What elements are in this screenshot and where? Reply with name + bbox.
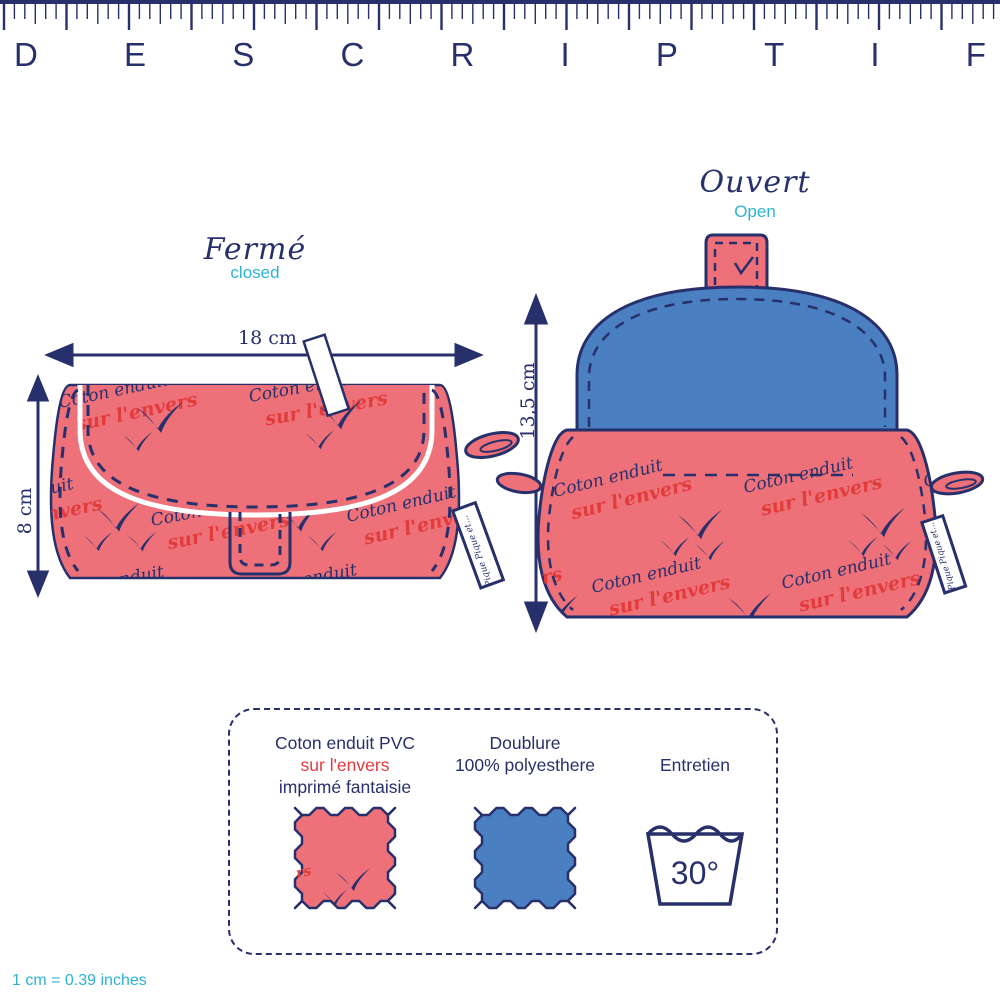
title-letter-3: C — [340, 38, 364, 71]
materials-legend-box: Coton enduit PVC sur l'envers imprimé fa… — [228, 708, 778, 955]
closed-view-title-en: closed — [180, 263, 330, 283]
open-bag-lining — [577, 287, 897, 430]
pink-fabric-swatch: rs — [250, 802, 440, 922]
wash-30-icon: 30° — [620, 812, 770, 932]
title-letter-8: I — [870, 38, 879, 71]
open-height-dim-label: 13,5 cm — [517, 361, 539, 441]
title-letter-0: D — [14, 38, 38, 71]
print-red-text: sur l'envers — [68, 581, 195, 626]
title-letter-4: R — [450, 38, 474, 71]
closed-width-dim-label: 18 cm — [238, 327, 297, 349]
title-letter-7: T — [764, 38, 784, 71]
legend-c2-line-1: 100% polyesthere — [425, 754, 625, 776]
legend-c3-line-0: Entretien — [620, 754, 770, 776]
ruler-icon — [0, 0, 1000, 30]
closed-view-title-fr: Fermé — [180, 232, 330, 267]
legend-c1-line-2: imprimé fantaisie — [250, 776, 440, 798]
closed-height-dim-label: 8 cm — [14, 481, 36, 541]
legend-column-care: Entretien 30° — [620, 754, 770, 932]
open-view-title-en: Open — [675, 202, 835, 222]
legend-column-lining: Doublure 100% polyesthere — [425, 732, 625, 922]
print-red-text: sur l'envers — [261, 579, 388, 624]
page-title: D E S C R I P T I F — [0, 30, 1000, 78]
legend-c2-line-0: Doublure — [425, 732, 625, 754]
legend-column-fabric: Coton enduit PVC sur l'envers imprimé fa… — [250, 732, 440, 922]
open-bag-illustration: Coton enduitsur l'envers Coton enduitsur… — [505, 225, 1000, 635]
unit-conversion-note: 1 cm = 0.39 inches — [12, 972, 147, 990]
blue-fabric-swatch — [425, 802, 625, 922]
legend-c1-line-1: sur l'envers — [250, 754, 440, 776]
wash-temperature-text: 30° — [671, 855, 719, 891]
title-letter-6: P — [656, 38, 678, 71]
descriptif-spec-sheet: D E S C R I P T I F Fermé closed Ouvert … — [0, 0, 1000, 1000]
title-letter-9: F — [966, 38, 986, 71]
legend-c1-line-0: Coton enduit PVC — [250, 732, 440, 754]
open-view-title-fr: Ouvert — [675, 165, 835, 200]
title-letter-1: E — [124, 38, 146, 71]
bird-icon — [507, 514, 539, 536]
title-letter-2: S — [232, 38, 254, 71]
open-side-loop — [930, 469, 985, 498]
title-letter-5: I — [561, 38, 570, 71]
